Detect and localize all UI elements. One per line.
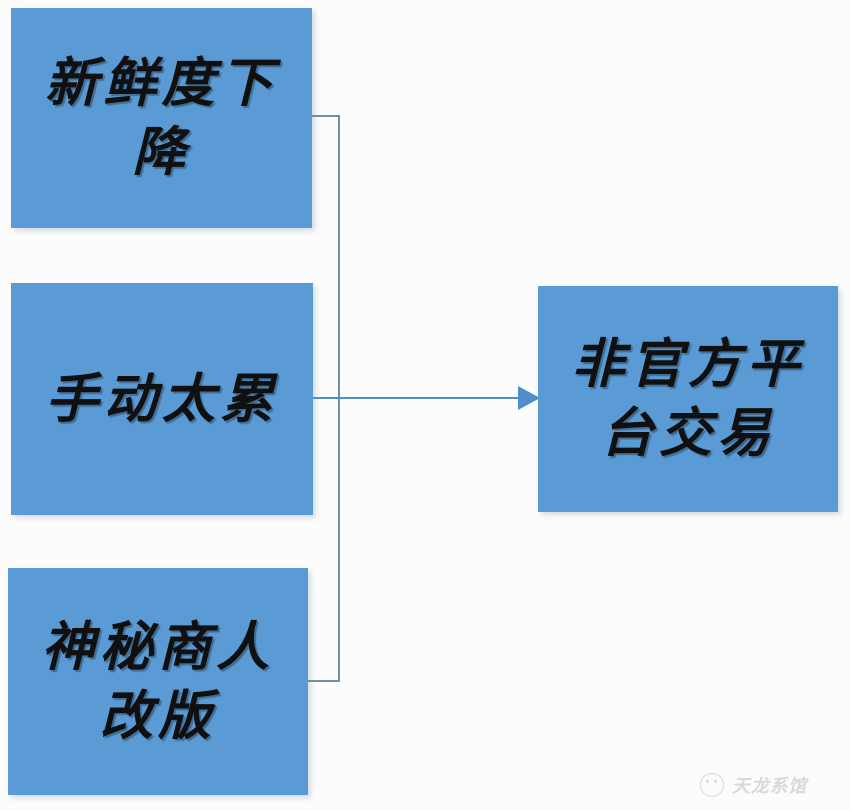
- smiley-face-icon: [700, 773, 724, 797]
- diagram-canvas: 新鲜度下降 手动太累 神秘商人改版 非官方平台交易 天龙系馆: [0, 0, 850, 810]
- connector-freshness-horizontal: [312, 115, 340, 117]
- node-mystery-merchant-revamp[interactable]: 神秘商人改版: [8, 568, 308, 795]
- node-freshness-decline[interactable]: 新鲜度下降: [11, 8, 312, 228]
- node-freshness-decline-label: 新鲜度下降: [11, 49, 312, 187]
- node-mystery-merchant-revamp-label: 神秘商人改版: [8, 613, 308, 751]
- watermark-label: 天龙系馆: [732, 772, 807, 798]
- node-manual-too-tiring-label: 手动太累: [35, 365, 288, 434]
- connector-main-arrow-line: [313, 397, 525, 399]
- node-unofficial-platform-trading-label: 非官方平台交易: [538, 330, 838, 468]
- node-manual-too-tiring[interactable]: 手动太累: [11, 283, 313, 515]
- connector-merchant-horizontal: [308, 680, 340, 682]
- arrow-head-icon: [518, 386, 540, 410]
- watermark: 天龙系馆: [700, 772, 807, 798]
- node-unofficial-platform-trading[interactable]: 非官方平台交易: [538, 286, 838, 512]
